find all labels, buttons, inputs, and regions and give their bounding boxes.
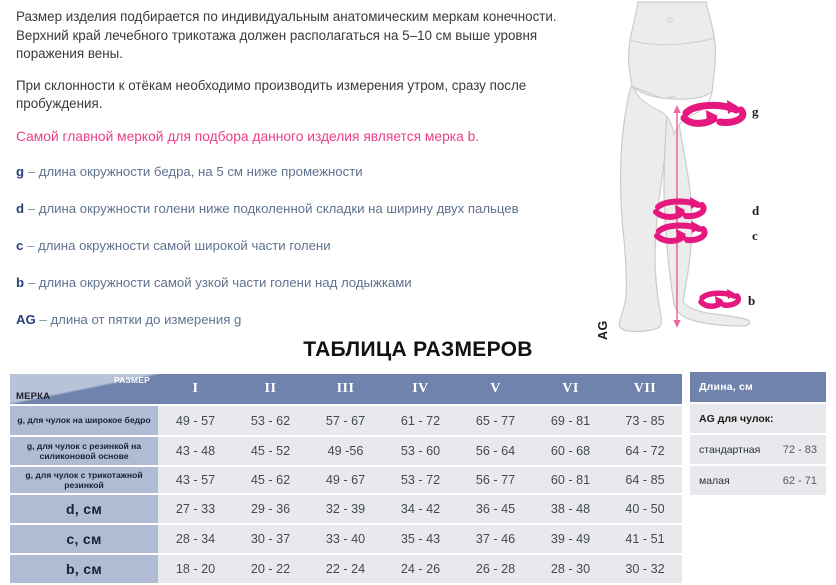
definition-b: b – длина окружности самой узкой части г…: [16, 274, 596, 291]
highlight-note: Самой главной меркой для подбора данного…: [16, 127, 596, 146]
definition-text-c: длина окружности самой широкой части гол…: [38, 238, 331, 253]
length-panel-row-standard: стандартная 72 - 83: [690, 435, 826, 464]
cell-r3-c4: 36 - 45: [458, 495, 533, 523]
column-header-1: I: [158, 374, 233, 404]
figure-label-d: d: [752, 203, 759, 219]
definition-dash-g: –: [28, 164, 35, 179]
column-header-5: V: [458, 374, 533, 404]
cell-r0-c3: 61 - 72: [383, 406, 458, 435]
cell-r0-c6: 73 - 85: [608, 406, 682, 435]
length-panel-title-text: AG для чулок:: [699, 413, 817, 425]
cell-r4-c1: 30 - 37: [233, 525, 308, 553]
figure-label-ag: AG: [596, 100, 610, 340]
cell-r4-c6: 41 - 51: [608, 525, 682, 553]
cell-r1-c1: 45 - 52: [233, 437, 308, 465]
cell-r5-c4: 26 - 28: [458, 555, 533, 583]
row-label-c: c, см: [10, 525, 158, 553]
size-table: РАЗМЕР МЕРКА I II III IV V VI VII g, для…: [10, 372, 682, 585]
cell-r5-c0: 18 - 20: [158, 555, 233, 583]
length-row-name-small: малая: [699, 475, 783, 487]
cell-r0-c2: 57 - 67: [308, 406, 383, 435]
corner-label-razmer: РАЗМЕР: [114, 375, 150, 385]
cell-r5-c6: 30 - 32: [608, 555, 682, 583]
instructions-column: Размер изделия подбирается по индивидуал…: [16, 8, 596, 348]
table-row: g, для чулок с трикотажной резинкой 43 -…: [10, 467, 682, 493]
definition-key-ag: AG: [16, 312, 36, 327]
cell-r1-c2: 49 -56: [308, 437, 383, 465]
length-panel-header: Длина, см: [690, 372, 826, 402]
definition-dash-d: –: [28, 201, 35, 216]
cell-r1-c3: 53 - 60: [383, 437, 458, 465]
figure-label-c: c: [752, 228, 758, 244]
corner-label-merka: МЕРКА: [16, 391, 50, 402]
top-section: Размер изделия подбирается по индивидуал…: [0, 0, 836, 336]
table-row: d, см 27 - 33 29 - 36 32 - 39 34 - 42 36…: [10, 495, 682, 523]
definition-key-b: b: [16, 275, 24, 290]
body-silhouette-icon: [596, 0, 836, 340]
cell-r0-c0: 49 - 57: [158, 406, 233, 435]
cell-r1-c4: 56 - 64: [458, 437, 533, 465]
row-label-b: b, см: [10, 555, 158, 583]
definition-dash-ag: –: [39, 312, 46, 327]
cell-r3-c0: 27 - 33: [158, 495, 233, 523]
table-row: b, см 18 - 20 20 - 22 22 - 24 24 - 26 26…: [10, 555, 682, 583]
row-label-g-silicone: g, для чулок с резинкой на силиконовой о…: [10, 437, 158, 465]
cell-r5-c2: 22 - 24: [308, 555, 383, 583]
definition-key-g: g: [16, 164, 24, 179]
column-header-3: III: [308, 374, 383, 404]
intro-paragraph-1: Размер изделия подбирается по индивидуал…: [16, 8, 596, 64]
definition-c: c – длина окружности самой широкой части…: [16, 237, 596, 254]
definition-key-c: c: [16, 238, 23, 253]
definition-g: g – длина окружности бедра, на 5 см ниже…: [16, 163, 596, 180]
cell-r2-c6: 64 - 85: [608, 467, 682, 493]
cell-r3-c3: 34 - 42: [383, 495, 458, 523]
cell-r5-c1: 20 - 22: [233, 555, 308, 583]
definition-ag: AG – длина от пятки до измерения g: [16, 311, 596, 328]
cell-r3-c5: 38 - 48: [533, 495, 608, 523]
cell-r2-c0: 43 - 57: [158, 467, 233, 493]
cell-r4-c2: 33 - 40: [308, 525, 383, 553]
figure-label-b: b: [748, 293, 755, 309]
row-label-g-knit: g, для чулок с трикотажной резинкой: [10, 467, 158, 493]
length-row-value-standard: 72 - 83: [783, 444, 817, 456]
page-title: ТАБЛИЦА РАЗМЕРОВ: [0, 338, 836, 362]
cell-r2-c4: 56 - 77: [458, 467, 533, 493]
cell-r0-c5: 69 - 81: [533, 406, 608, 435]
cell-r1-c5: 60 - 68: [533, 437, 608, 465]
column-header-2: II: [233, 374, 308, 404]
row-label-g-wide: g, для чулок на широкое бедро: [10, 406, 158, 435]
length-panel: Длина, см AG для чулок: стандартная 72 -…: [690, 372, 826, 495]
definition-text-b: длина окружности самой узкой части голен…: [39, 275, 412, 290]
row-label-d: d, см: [10, 495, 158, 523]
corner-header-cell: РАЗМЕР МЕРКА: [10, 374, 158, 404]
definition-text-g: длина окружности бедра, на 5 см ниже про…: [39, 164, 363, 179]
column-header-6: VI: [533, 374, 608, 404]
cell-r2-c3: 53 - 72: [383, 467, 458, 493]
cell-r0-c1: 53 - 62: [233, 406, 308, 435]
cell-r3-c1: 29 - 36: [233, 495, 308, 523]
length-panel-title-row: AG для чулок:: [690, 404, 826, 433]
definition-d: d – длина окружности голени ниже подколе…: [16, 200, 596, 217]
figure-label-g: g: [752, 104, 759, 120]
cell-r2-c5: 60 - 81: [533, 467, 608, 493]
definition-text-ag: длина от пятки до измерения g: [50, 312, 241, 327]
table-row: g, для чулок с резинкой на силиконовой о…: [10, 437, 682, 465]
table-header-row: РАЗМЕР МЕРКА I II III IV V VI VII: [10, 374, 682, 404]
cell-r1-c0: 43 - 48: [158, 437, 233, 465]
definition-dash-c: –: [27, 238, 34, 253]
cell-r5-c3: 24 - 26: [383, 555, 458, 583]
table-row: c, см 28 - 34 30 - 37 33 - 40 35 - 43 37…: [10, 525, 682, 553]
cell-r4-c3: 35 - 43: [383, 525, 458, 553]
cell-r4-c5: 39 - 49: [533, 525, 608, 553]
cell-r5-c5: 28 - 30: [533, 555, 608, 583]
cell-r3-c2: 32 - 39: [308, 495, 383, 523]
cell-r1-c6: 64 - 72: [608, 437, 682, 465]
leg-measurement-diagram: g d c b AG: [596, 0, 836, 340]
length-row-name-standard: стандартная: [699, 444, 783, 456]
cell-r4-c4: 37 - 46: [458, 525, 533, 553]
table-row: g, для чулок на широкое бедро 49 - 57 53…: [10, 406, 682, 435]
length-panel-row-small: малая 62 - 71: [690, 466, 826, 495]
definition-text-d: длина окружности голени ниже подколенной…: [39, 201, 519, 216]
definition-dash-b: –: [28, 275, 35, 290]
cell-r2-c1: 45 - 62: [233, 467, 308, 493]
cell-r0-c4: 65 - 77: [458, 406, 533, 435]
cell-r3-c6: 40 - 50: [608, 495, 682, 523]
column-header-4: IV: [383, 374, 458, 404]
column-header-7: VII: [608, 374, 682, 404]
definition-key-d: d: [16, 201, 24, 216]
length-row-value-small: 62 - 71: [783, 475, 817, 487]
cell-r4-c0: 28 - 34: [158, 525, 233, 553]
cell-r2-c2: 49 - 67: [308, 467, 383, 493]
intro-paragraph-2: При склонности к отёкам необходимо произ…: [16, 77, 596, 114]
size-table-wrapper: РАЗМЕР МЕРКА I II III IV V VI VII g, для…: [10, 372, 826, 567]
